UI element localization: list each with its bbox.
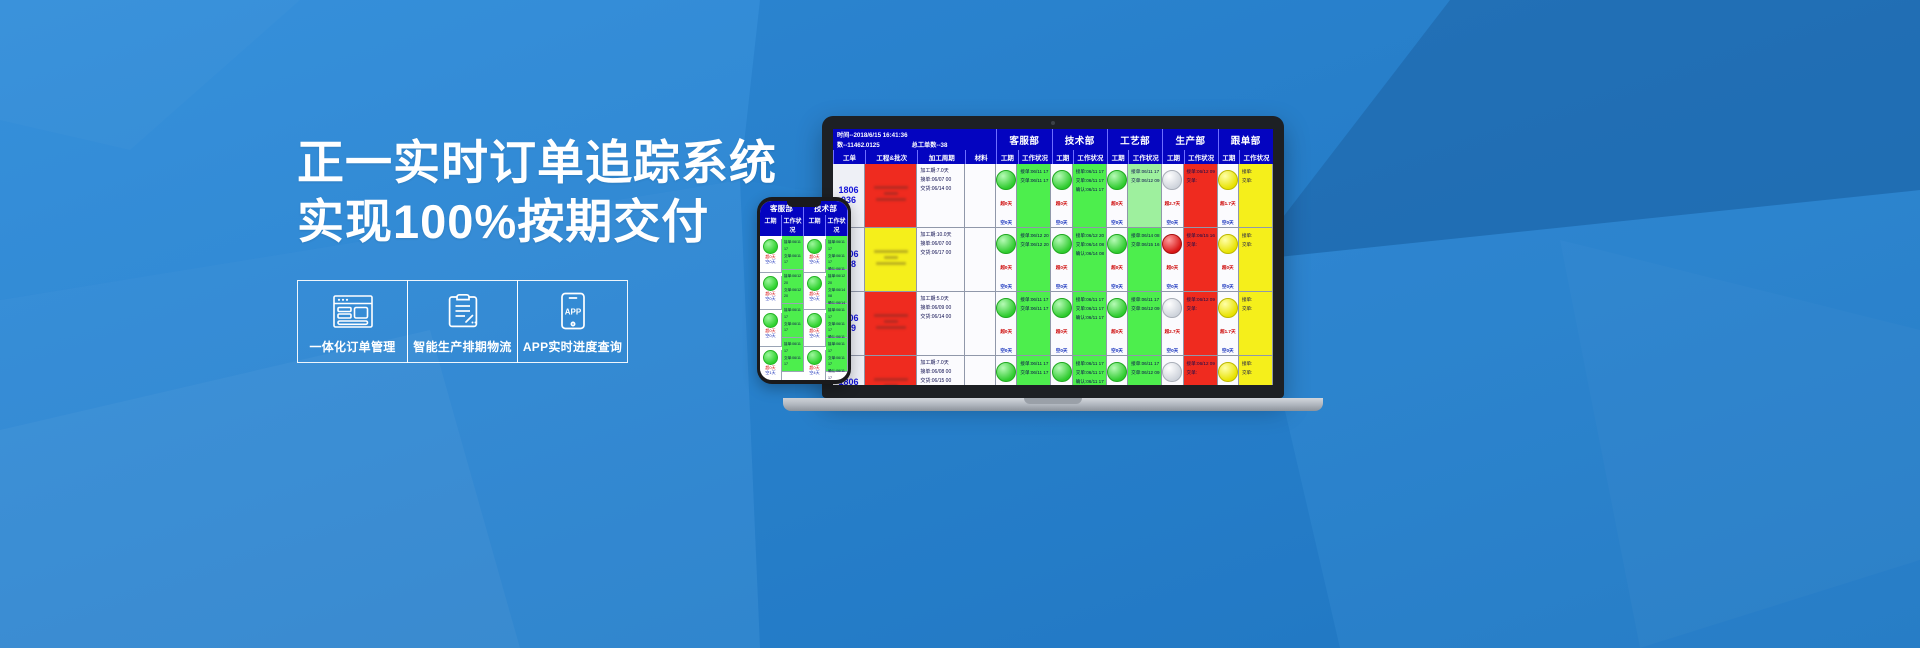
status-line: 接单:06/11 17 <box>1020 167 1050 176</box>
phone-col-stat-tech: 工作状况 <box>826 215 848 236</box>
status-line: 接单:06/12 20 <box>1076 231 1106 240</box>
dept-status-cell[interactable]: 接单:06/11 17交单:06/12 09 <box>1128 356 1162 385</box>
column-header-3: 材料 <box>965 150 996 164</box>
status-line: 确认:06/11 17 <box>1076 377 1106 385</box>
phone-notch <box>787 201 821 207</box>
overdue-tag: 超0天 <box>1111 329 1123 336</box>
dept-status-cell[interactable]: 接单:06/12 20交单:06/14 08确认:06/14 08 <box>1073 228 1107 291</box>
laptop-mockup: 时间--2018/6/15 16:41:36 数--11462.0125 总工单… <box>822 116 1323 411</box>
status-line: 接单:06/12 09 <box>1187 359 1217 368</box>
dept-status-cell[interactable]: 接单:交单: <box>1239 356 1273 385</box>
phone-status-cell[interactable]: 接单:06/11 17交单:06/11 17确认:06/11 17 <box>826 304 848 338</box>
dept-status-cell[interactable]: 接单:06/12 20交单:06/12 20 <box>1017 228 1051 291</box>
overdue-tag: 超0天 <box>1111 265 1123 272</box>
laptop-screen[interactable]: 时间--2018/6/15 16:41:36 数--11462.0125 总工单… <box>833 129 1273 385</box>
dept-term-cell[interactable]: 超0天空0天 <box>1162 228 1183 291</box>
processing-cycle-cell: 加工期:5.0天接单:06/09 00交货:06/14 00 <box>917 292 965 355</box>
idle-tag: 空0天 <box>1000 220 1012 227</box>
processing-cycle-cell: 加工期:7.0天接单:06/07 00交货:06/14 00 <box>917 164 965 227</box>
status-line: 交单:06/11 17 <box>1020 304 1050 313</box>
phone-term-cell[interactable]: 超0天空4天 <box>804 350 826 380</box>
dept-term-cell[interactable]: 超0天空3天 <box>1107 356 1128 385</box>
status-line: 交单:06/12 09 <box>1131 304 1161 313</box>
idle-tag: 空0天 <box>804 333 825 338</box>
status-dot-grey <box>1162 298 1182 318</box>
status-line: 确认:06/14 08 <box>1076 249 1106 258</box>
feature-app-tracking[interactable]: APP APP实时进度查询 <box>517 280 628 363</box>
phone-term-cell[interactable]: 超0天空1天 <box>760 350 782 380</box>
idle-tag: 空1天 <box>760 370 781 375</box>
status-dot-green <box>807 350 822 365</box>
status-line: 交单:06/15 16 <box>1131 240 1161 249</box>
meta-count: 数--11462.0125 <box>837 141 880 151</box>
material-cell <box>965 228 996 291</box>
status-lines: 接单:06/11 17交单:06/11 17 <box>782 338 803 368</box>
status-dot-grey <box>1162 362 1182 382</box>
idle-tag: 空0天 <box>1222 348 1234 355</box>
idle-tag: 空0天 <box>760 296 781 301</box>
status-line: 交单: <box>1242 240 1272 249</box>
dept-status-cell[interactable]: 接单:交单: <box>1239 292 1273 355</box>
dept-status-cell[interactable]: 接单:06/14 08交单:06/15 16 <box>1128 228 1162 291</box>
page-title: 正一实时订单追踪系统 实现100%按期交付 <box>297 134 777 252</box>
status-line: 接单:06/11 17 <box>1020 295 1050 304</box>
dept-term-cell[interactable]: 超0天空0天 <box>1107 228 1128 291</box>
dept-term-cell[interactable]: 超0天空0天 <box>1051 228 1072 291</box>
dept-header-tech: 技术部 <box>1052 129 1107 150</box>
feature-smart-scheduling[interactable]: 智能生产排期物流 <box>407 280 518 363</box>
idle-tag: 空0天 <box>1111 348 1123 355</box>
phone-col-term-cs: 工期 <box>760 215 782 236</box>
status-dot-green <box>763 276 778 291</box>
column-header-客服部-0: 工期 <box>996 150 1017 164</box>
dept-term-cell[interactable]: 超1.7天空5天 <box>1162 356 1183 385</box>
laptop-base <box>783 398 1323 411</box>
status-line: 接单:06/14 08 <box>1131 231 1161 240</box>
status-line: 接单:06/12 09 <box>1187 295 1217 304</box>
column-header-工艺部-1: 工作状况 <box>1128 150 1162 164</box>
status-line: 交单:06/12 20 <box>1020 240 1050 249</box>
dept-status-cell[interactable]: 接单:06/12 09交单: <box>1184 164 1218 227</box>
column-header-0: 工单 <box>833 150 865 164</box>
dept-status-cell[interactable]: 接单:06/11 17交单:06/11 17确认:06/11 17 <box>1073 164 1107 227</box>
column-header-1: 工程&批次 <box>865 150 917 164</box>
status-dot-green <box>763 350 778 365</box>
phone-term-cell[interactable]: 超0天空0天 <box>760 276 782 310</box>
phone-term-cell[interactable]: 超0天空0天 <box>804 276 826 310</box>
meta-time: 时间--2018/6/15 16:41:36 <box>837 131 993 141</box>
status-line: 接单:06/11 17 <box>1131 359 1161 368</box>
phone-status-cell[interactable]: 接单:06/12 20交单:06/14 08确认:06/14 08 <box>826 270 848 304</box>
status-line: 交单:06/11 17 <box>1020 176 1050 185</box>
dept-term-cell[interactable]: 超0天空0天 <box>1107 164 1128 227</box>
status-line: 交单: <box>1242 304 1272 313</box>
phone-term-cell[interactable]: 超0天空0天 <box>804 313 826 347</box>
idle-tag: 空0天 <box>1167 348 1179 355</box>
status-dot-green <box>996 298 1016 318</box>
status-line: 接单:06/11 17 <box>1076 167 1106 176</box>
idle-tag: 空0天 <box>804 259 825 264</box>
status-line: 交单: <box>1187 304 1217 313</box>
status-line: 交单: <box>1187 368 1217 377</box>
idle-tag: 空0天 <box>760 259 781 264</box>
overdue-tag: 超0天 <box>1000 329 1012 336</box>
status-dot-green <box>1052 234 1072 254</box>
table-row[interactable]: 1806 040加工期:7.0天接单:06/08 00交货:06/15 00超0… <box>833 356 1273 385</box>
overdue-tag: 超0天 <box>1056 201 1068 208</box>
project-batch-cell <box>865 356 917 385</box>
status-line: 接单: <box>1242 359 1272 368</box>
status-dot-yellow <box>1218 170 1238 190</box>
smartphone-mockup: 客服部 技术部 工期 工作状况 工期 工作状况 超0天空0天超0天空0天超0天空… <box>757 197 851 384</box>
dept-term-cell[interactable]: 超1.7天空0天 <box>1218 292 1239 355</box>
status-dot-yellow <box>1218 234 1238 254</box>
status-line: 接单:06/11 17 <box>1131 167 1161 176</box>
feature-label: 一体化订单管理 <box>309 338 395 355</box>
phone-col-term-tech: 工期 <box>804 215 826 236</box>
status-line: 接单: <box>1242 167 1272 176</box>
phone-term-cell[interactable]: 超0天空0天 <box>760 313 782 347</box>
status-dot-green <box>996 362 1016 382</box>
laptop-trackpad-notch <box>1024 398 1082 404</box>
status-dot-green <box>807 276 822 291</box>
status-dot-grey <box>1162 170 1182 190</box>
status-line: 接单:06/11 17 <box>1020 359 1050 368</box>
dept-term-cell[interactable]: 超0天空4天 <box>1051 356 1072 385</box>
dept-term-cell[interactable]: 超1.7天空0天 <box>1218 164 1239 227</box>
dashboard-table-body: 1806 036加工期:7.0天接单:06/07 00交货:06/14 00超0… <box>833 164 1273 385</box>
idle-tag: 空0天 <box>1056 284 1068 291</box>
project-batch-cell <box>865 292 917 355</box>
phone-table-body: 超0天空0天超0天空0天超0天空0天超0天空1天接单:06/11 17交单:06… <box>760 236 848 380</box>
dept-term-cell[interactable]: 超0天空0天 <box>996 292 1017 355</box>
column-header-2: 加工周期 <box>917 150 965 164</box>
dept-status-cell[interactable]: 接单:06/11 17交单:06/11 17确认:06/11 17 <box>1073 292 1107 355</box>
dept-header-follow: 跟单部 <box>1218 129 1273 150</box>
overdue-tag: 超0天 <box>1167 265 1179 272</box>
column-header-跟单部-0: 工期 <box>1218 150 1239 164</box>
dept-term-cell[interactable]: 超0天空0天 <box>1051 164 1072 227</box>
overdue-tag: 超1.7天 <box>1220 329 1236 336</box>
overdue-tag: 超2.7天 <box>1165 329 1181 336</box>
dept-status-cell[interactable]: 接单:06/11 17交单:06/11 17 <box>1017 356 1051 385</box>
dept-term-cell[interactable]: 超0天空0天 <box>1107 292 1128 355</box>
dept-status-cell[interactable]: 接单:06/11 17交单:06/11 17 <box>1017 164 1051 227</box>
idle-tag: 空0天 <box>1167 284 1179 291</box>
overdue-tag: 超0天 <box>1222 265 1234 272</box>
status-dot-green <box>763 313 778 328</box>
overdue-tag: 超0天 <box>1000 265 1012 272</box>
dept-term-cell[interactable]: 超0天空0天 <box>1218 228 1239 291</box>
dept-status-cell[interactable]: 接单:交单: <box>1239 164 1273 227</box>
overdue-tag: 超0天 <box>1056 265 1068 272</box>
status-lines: 接单:06/11 17交单:06/11 17 <box>782 304 803 334</box>
dept-status-cell[interactable]: 接单:06/11 17交单:06/12 09 <box>1128 164 1162 227</box>
status-dot-yellow <box>1218 298 1238 318</box>
status-dot-green <box>1052 170 1072 190</box>
dept-term-cell[interactable]: 超0天空0天 <box>996 228 1017 291</box>
overdue-tag: 超0天 <box>1056 329 1068 336</box>
status-dot-green <box>1107 298 1127 318</box>
dept-status-cell[interactable]: 接单:06/12 09交单: <box>1184 356 1218 385</box>
dept-term-cell[interactable]: 超0天空0天 <box>1051 292 1072 355</box>
dept-term-cell[interactable]: 超0天空0天 <box>996 164 1017 227</box>
idle-tag: 空0天 <box>1222 220 1234 227</box>
status-line: 交单:06/11 17 <box>1076 176 1106 185</box>
status-line: 接单:06/11 17 <box>1131 295 1161 304</box>
redacted-text <box>865 292 916 355</box>
dept-status-cell[interactable]: 接单:交单: <box>1239 228 1273 291</box>
phone-col-stat-cs: 工作状况 <box>782 215 804 236</box>
status-line: 确认:06/11 17 <box>1076 313 1106 322</box>
column-header-客服部-1: 工作状况 <box>1018 150 1052 164</box>
feature-order-management[interactable]: 一体化订单管理 <box>297 280 408 363</box>
dept-header-craft: 工艺部 <box>1107 129 1162 150</box>
idle-tag: 空4天 <box>804 370 825 375</box>
svg-text:APP: APP <box>564 308 581 317</box>
project-batch-cell <box>865 164 917 227</box>
processing-cycle-cell: 加工期:7.0天接单:06/08 00交货:06/15 00 <box>917 356 965 385</box>
headline-line-2: 实现100%按期交付 <box>297 193 777 252</box>
laptop-lid: 时间--2018/6/15 16:41:36 数--11462.0125 总工单… <box>822 116 1284 398</box>
overdue-tag: 超0天 <box>1000 201 1012 208</box>
dashboard-header: 时间--2018/6/15 16:41:36 数--11462.0125 总工单… <box>833 129 1273 150</box>
status-line: 交单: <box>1242 176 1272 185</box>
headline-line-1: 正一实时订单追踪系统 <box>297 136 777 189</box>
redacted-text <box>865 228 916 291</box>
status-line: 交单: <box>1187 240 1217 249</box>
order-management-icon <box>333 291 373 331</box>
status-line: 交单: <box>1187 176 1217 185</box>
feature-list: 一体化订单管理 智能生产排期物流 <box>297 280 777 363</box>
dept-term-cell[interactable]: 超2.7天空0天 <box>1162 292 1183 355</box>
status-dot-green <box>763 239 778 254</box>
table-row[interactable]: 1806 036加工期:7.0天接单:06/07 00交货:06/14 00超0… <box>833 164 1273 228</box>
column-header-生产部-1: 工作状况 <box>1184 150 1218 164</box>
status-line: 交单: <box>1242 368 1272 377</box>
idle-tag: 空0天 <box>1056 348 1068 355</box>
dept-term-cell[interactable]: 超0天空1天 <box>996 356 1017 385</box>
phone-status-cell[interactable]: 接单:06/11 17交单:06/11 17 <box>782 236 804 270</box>
column-header-技术部-0: 工期 <box>1052 150 1073 164</box>
dept-header-prod: 生产部 <box>1162 129 1217 150</box>
status-line: 交单:06/12 09 <box>1131 176 1161 185</box>
status-dot-green <box>1052 298 1072 318</box>
feature-label: APP实时进度查询 <box>523 338 622 355</box>
phone-status-cell[interactable]: 接单:06/11 17交单:06/11 17确认:06/11 17 <box>826 338 848 372</box>
dept-term-cell[interactable]: 超0.7天空1天 <box>1218 356 1239 385</box>
idle-tag: 空0天 <box>1167 220 1179 227</box>
status-dot-green <box>807 313 822 328</box>
dept-status-cell[interactable]: 接单:06/11 17交单:06/12 09 <box>1128 292 1162 355</box>
dashboard-meta: 时间--2018/6/15 16:41:36 数--11462.0125 总工单… <box>833 129 996 150</box>
material-cell <box>965 292 996 355</box>
material-cell <box>965 164 996 227</box>
idle-tag: 空0天 <box>760 333 781 338</box>
status-line: 接单:06/12 20 <box>1020 231 1050 240</box>
status-lines: 接单:06/11 17交单:06/11 17确认:06/11 17 <box>826 338 847 380</box>
table-row[interactable]: 1806 039加工期:5.0天接单:06/09 00交货:06/14 00超0… <box>833 292 1273 356</box>
idle-tag: 空0天 <box>1000 284 1012 291</box>
status-line: 确认:06/11 17 <box>1076 185 1106 194</box>
status-line: 接单: <box>1242 231 1272 240</box>
status-dot-yellow <box>1218 362 1238 382</box>
status-line: 交单:06/11 17 <box>1076 304 1106 313</box>
status-line: 接单:06/15 16 <box>1187 231 1217 240</box>
status-dot-green <box>1107 234 1127 254</box>
overdue-tag: 超1.7天 <box>1220 201 1236 208</box>
table-row[interactable]: 1806 038加工期:10.0天接单:06/07 00交货:06/17 00超… <box>833 228 1273 292</box>
clipboard-schedule-icon <box>447 291 479 331</box>
column-header-生产部-0: 工期 <box>1162 150 1183 164</box>
idle-tag: 空0天 <box>804 296 825 301</box>
redacted-text <box>865 164 916 227</box>
status-dot-green <box>807 239 822 254</box>
phone-status-cell[interactable]: 接单:06/11 17交单:06/11 17确认:06/11 17 <box>826 236 848 270</box>
status-line: 交单:06/12 09 <box>1131 368 1161 377</box>
status-line: 交单:06/11 17 <box>1020 368 1050 377</box>
status-dot-green <box>996 170 1016 190</box>
status-lines: 接单:06/11 17交单:06/11 17 <box>782 236 803 266</box>
hero-copy: 正一实时订单追踪系统 实现100%按期交付 一体化订单管理 <box>297 134 777 363</box>
status-line: 接单:06/11 17 <box>1076 295 1106 304</box>
status-lines: 接单:06/12 20交单:06/12 20 <box>782 270 803 300</box>
order-tracking-dashboard: 时间--2018/6/15 16:41:36 数--11462.0125 总工单… <box>833 129 1273 385</box>
phone-status-cell[interactable]: 接单:06/12 20交单:06/12 20 <box>782 270 804 304</box>
phone-status-cell[interactable]: 接单:06/11 17交单:06/11 17 <box>782 338 804 372</box>
status-dot-green <box>1107 170 1127 190</box>
status-dot-green <box>1052 362 1072 382</box>
meta-total-orders: 总工单数--38 <box>912 141 948 151</box>
column-header-跟单部-1: 工作状况 <box>1239 150 1273 164</box>
status-dot-green <box>1107 362 1127 382</box>
idle-tag: 空0天 <box>1111 284 1123 291</box>
idle-tag: 空0天 <box>1111 220 1123 227</box>
status-line: 接单:06/12 09 <box>1187 167 1217 176</box>
webcam-icon <box>1051 121 1055 125</box>
overdue-tag: 超2.7天 <box>1165 201 1181 208</box>
feature-label: 智能生产排期物流 <box>413 338 511 355</box>
project-batch-cell <box>865 228 917 291</box>
status-line: 交单:06/14 08 <box>1076 240 1106 249</box>
phone-subheader: 工期 工作状况 工期 工作状况 <box>760 215 848 236</box>
dept-status-cell[interactable]: 接单:06/15 16交单: <box>1184 228 1218 291</box>
status-line: 交单:06/11 17 <box>1076 368 1106 377</box>
dashboard-column-header: 工单工程&批次加工周期材料工期工作状况工期工作状况工期工作状况工期工作状况工期工… <box>833 150 1273 164</box>
status-line: 接单:06/11 17 <box>1076 359 1106 368</box>
dept-header-cs: 客服部 <box>996 129 1051 150</box>
idle-tag: 空0天 <box>1056 220 1068 227</box>
phone-status-cell[interactable]: 接单:06/11 17交单:06/11 17 <box>782 304 804 338</box>
idle-tag: 空0天 <box>1000 348 1012 355</box>
material-cell <box>965 356 996 385</box>
status-dot-red <box>1162 234 1182 254</box>
idle-tag: 空0天 <box>1222 284 1234 291</box>
dept-status-cell[interactable]: 接单:06/11 17交单:06/11 17确认:06/11 17 <box>1073 356 1107 385</box>
phone-term-cell[interactable]: 超0天空0天 <box>760 239 782 273</box>
column-header-工艺部-0: 工期 <box>1107 150 1128 164</box>
overdue-tag: 超0天 <box>1111 201 1123 208</box>
dept-status-cell[interactable]: 接单:06/11 17交单:06/11 17 <box>1017 292 1051 355</box>
dept-term-cell[interactable]: 超2.7天空0天 <box>1162 164 1183 227</box>
phone-term-cell[interactable]: 超0天空0天 <box>804 239 826 273</box>
redacted-text <box>865 356 916 385</box>
status-line: 接单: <box>1242 295 1272 304</box>
processing-cycle-cell: 加工期:10.0天接单:06/07 00交货:06/17 00 <box>917 228 965 291</box>
mobile-app-icon: APP <box>560 291 586 331</box>
phone-screen[interactable]: 客服部 技术部 工期 工作状况 工期 工作状况 超0天空0天超0天空0天超0天空… <box>760 201 848 380</box>
column-header-技术部-1: 工作状况 <box>1073 150 1107 164</box>
status-dot-green <box>996 234 1016 254</box>
dept-status-cell[interactable]: 接单:06/12 09交单: <box>1184 292 1218 355</box>
